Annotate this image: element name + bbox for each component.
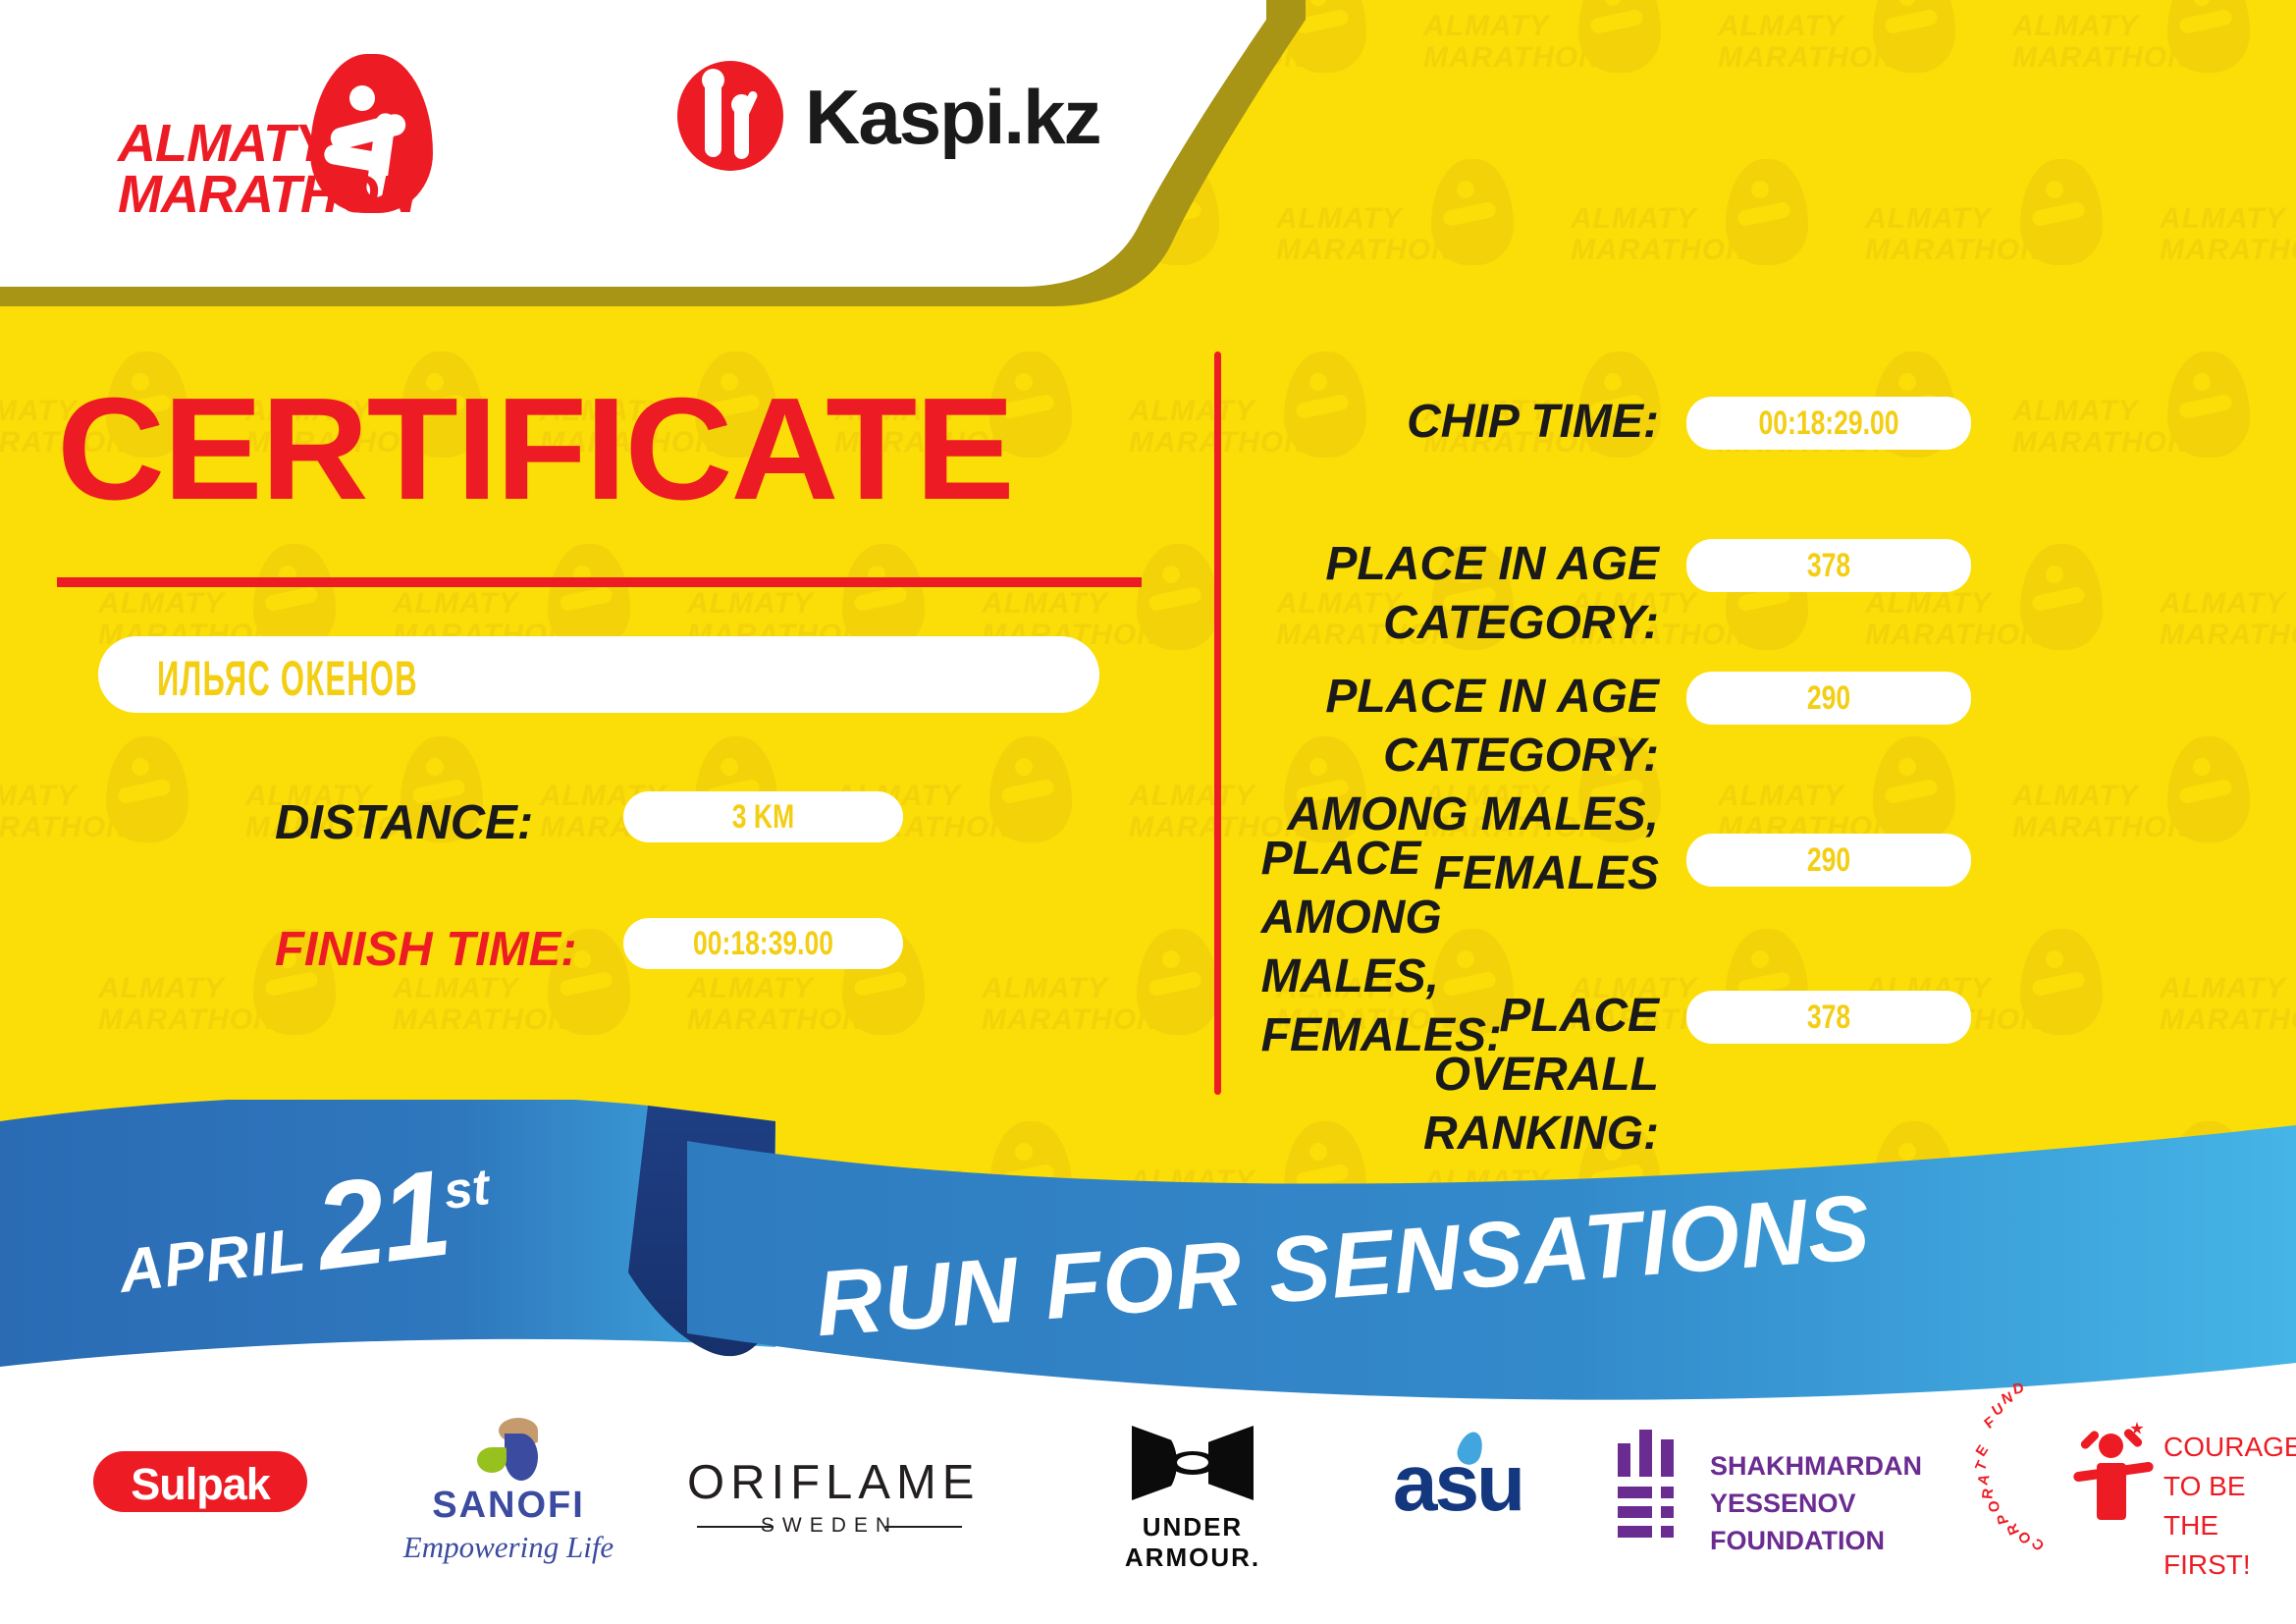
distance-label: DISTANCE: [275,795,533,850]
sponsor-courage-fund: CORPORATE FUND COURAGE TO BE THE FIRST! [2030,1404,2275,1600]
watermark-text: MARATHON [1718,43,1944,73]
distance-row: DISTANCE: 3 KM [275,791,962,860]
watermark-tile: ALMATYMARATHON [1266,153,1561,346]
watermark-text: ALMATY [982,589,1207,619]
watermark-tile: ALMATYMARATHON [2002,346,2296,538]
result-row-place-age-category-among: PLACE IN AGE CATEGORY: AMONG MALES, FEMA… [1276,668,1963,795]
result-value: 290 [1718,841,1940,880]
watermark-tile: ALMATYMARATHON [1414,0,1708,153]
finish-time-value: 00:18:39.00 [654,925,872,963]
watermark-text: ALMATY [98,589,324,619]
athlete-name-field: ИЛЬЯС ОКЕНОВ [98,636,1099,713]
sulpak-logo: Sulpak [93,1451,307,1512]
result-pill: 290 [1686,672,1971,725]
watermark-text: ALMATY [2160,589,2296,619]
finish-time-pill: 00:18:39.00 [623,918,903,969]
result-row-chip-time: CHIP TIME: 00:18:29.00 [1276,393,1963,461]
result-label: PLACE IN AGE CATEGORY: [1276,535,1659,653]
finish-time-row: FINISH TIME: 00:18:39.00 [275,918,962,987]
watermark-text: MARATHON [2160,621,2296,650]
result-value: 00:18:29.00 [1718,405,1940,443]
watermark-tile: ALMATYMARATHON [2150,923,2296,1115]
watermark-text: ALMATY [982,974,1207,1003]
result-pill: 378 [1686,539,1971,592]
almaty-marathon-logo: ALMATY MARATHON [118,54,442,196]
watermark-tile: ALMATYMARATHON [0,731,236,923]
page-title: CERTIFICATE [57,376,1013,523]
watermark-text: ALMATY [1571,204,1796,234]
watermark-text: MARATHON [393,1005,618,1035]
watermark-text: ALMATY [2160,974,2296,1003]
watermark-text: ALMATY [0,782,177,811]
watermark-text: ALMATY [1718,12,1944,41]
watermark-text: ALMATY [687,589,913,619]
watermark-text: MARATHON [1276,236,1502,265]
vertical-divider [1214,352,1221,1095]
sulpak-label: Sulpak [93,1459,307,1510]
result-pill: 378 [1686,991,1971,1044]
watermark-tile: ALMATYMARATHON [1561,153,1855,346]
kaspi-wordmark: Kaspi.kz [805,73,1099,162]
watermark-text: ALMATY [1276,204,1502,234]
finish-time-label: FINISH TIME: [275,922,577,977]
courage-figure-icon [2077,1420,2154,1522]
almaty-logo-line2: MARATHON [118,164,415,225]
watermark-text: MARATHON [982,1005,1207,1035]
title-underline [57,577,1142,587]
ribbon-day: 21 [310,1160,453,1282]
kaspi-logo: Kaspi.kz [677,59,1090,177]
athlete-name-value: ИЛЬЯС ОКЕНОВ [157,650,418,707]
sponsor-bar: Sulpak SANOFI Empowering Life ORIFLAME S… [0,1404,2296,1624]
result-row-place-age-category: PLACE IN AGE CATEGORY: 378 [1276,535,1963,604]
sanofi-label: SANOFI [400,1485,616,1527]
kaspi-people-icon [677,61,783,171]
watermark-text: ALMATY [2012,397,2238,426]
arc-char: R [1979,1488,1997,1499]
sponsor-oriflame: ORIFLAME SWEDEN [687,1404,972,1600]
watermark-text: MARATHON [0,813,177,842]
distance-pill: 3 KM [623,791,903,842]
under-armour-icon [1132,1426,1254,1500]
result-label: CHIP TIME: [1407,393,1659,452]
watermark-text: MARATHON [2012,428,2238,458]
oriflame-sublabel: SWEDEN [687,1514,972,1538]
sponsor-sanofi: SANOFI Empowering Life [400,1404,616,1600]
sponsor-under-armour: UNDER ARMOUR. [1085,1404,1301,1600]
result-row-place-overall-ranking: PLACE OVERALL RANKING: 378 [1276,987,1963,1056]
arc-char: O [1986,1500,2003,1513]
watermark-text: ALMATY [2160,204,2296,234]
ribbon-ordinal: st [441,1158,493,1221]
sponsor-sulpak: Sulpak [93,1404,309,1600]
watermark-text: MARATHON [2160,1005,2296,1035]
watermark-text: MARATHON [98,1005,324,1035]
oriflame-label: ORIFLAME [687,1455,972,1510]
watermark-text: MARATHON [2160,236,2296,265]
under-armour-label: UNDER ARMOUR. [1085,1512,1301,1573]
result-row-place-among-males-females: PLACE AMONG MALES, FEMALES: 290 [1276,830,1963,957]
watermark-text: ALMATY [1865,204,2091,234]
watermark-tile: ALMATYMARATHON [1708,0,2002,153]
result-pill: 290 [1686,834,1971,887]
watermark-text: ALMATY [2012,12,2238,41]
watermark-text: MARATHON [687,1005,913,1035]
courage-label: COURAGE TO BE THE FIRST! [2163,1428,2296,1585]
watermark-text: ALMATY [1423,12,1649,41]
result-value: 378 [1718,547,1940,585]
result-value: 378 [1718,999,1940,1037]
watermark-text: MARATHON [1571,236,1796,265]
watermark-tile: ALMATYMARATHON [2002,0,2296,153]
yessenov-icon [1618,1430,1694,1538]
watermark-tile: ALMATYMARATHON [2150,538,2296,731]
sanofi-tagline: Empowering Life [400,1530,616,1565]
watermark-tile: ALMATYMARATHON [972,923,1266,1115]
watermark-text: ALMATY [393,589,618,619]
yessenov-label: SHAKHMARDAN YESSENOV FOUNDATION [1710,1447,1985,1559]
watermark-text: MARATHON [1865,236,2091,265]
watermark-text: MARATHON [2012,813,2238,842]
sanofi-icon [461,1418,556,1479]
watermark-tile: ALMATYMARATHON [1855,153,2150,346]
sponsor-yessenov-foundation: SHAKHMARDAN YESSENOV FOUNDATION [1610,1404,1983,1600]
watermark-text: ALMATY [2012,782,2238,811]
watermark-tile: ALMATYMARATHON [2150,153,2296,346]
watermark-tile: ALMATYMARATHON [2002,731,2296,923]
watermark-text: MARATHON [2012,43,2238,73]
distance-value: 3 KM [654,798,872,837]
watermark-text: MARATHON [1423,43,1649,73]
sponsor-asu: asu [1364,1404,1551,1600]
watermark-text: MARATHON [1865,621,2091,650]
result-pill: 00:18:29.00 [1686,397,1971,450]
event-date-ribbon: APRIL21st RUN FOR SENSATIONS [0,1100,2296,1414]
result-value: 290 [1718,679,1940,718]
